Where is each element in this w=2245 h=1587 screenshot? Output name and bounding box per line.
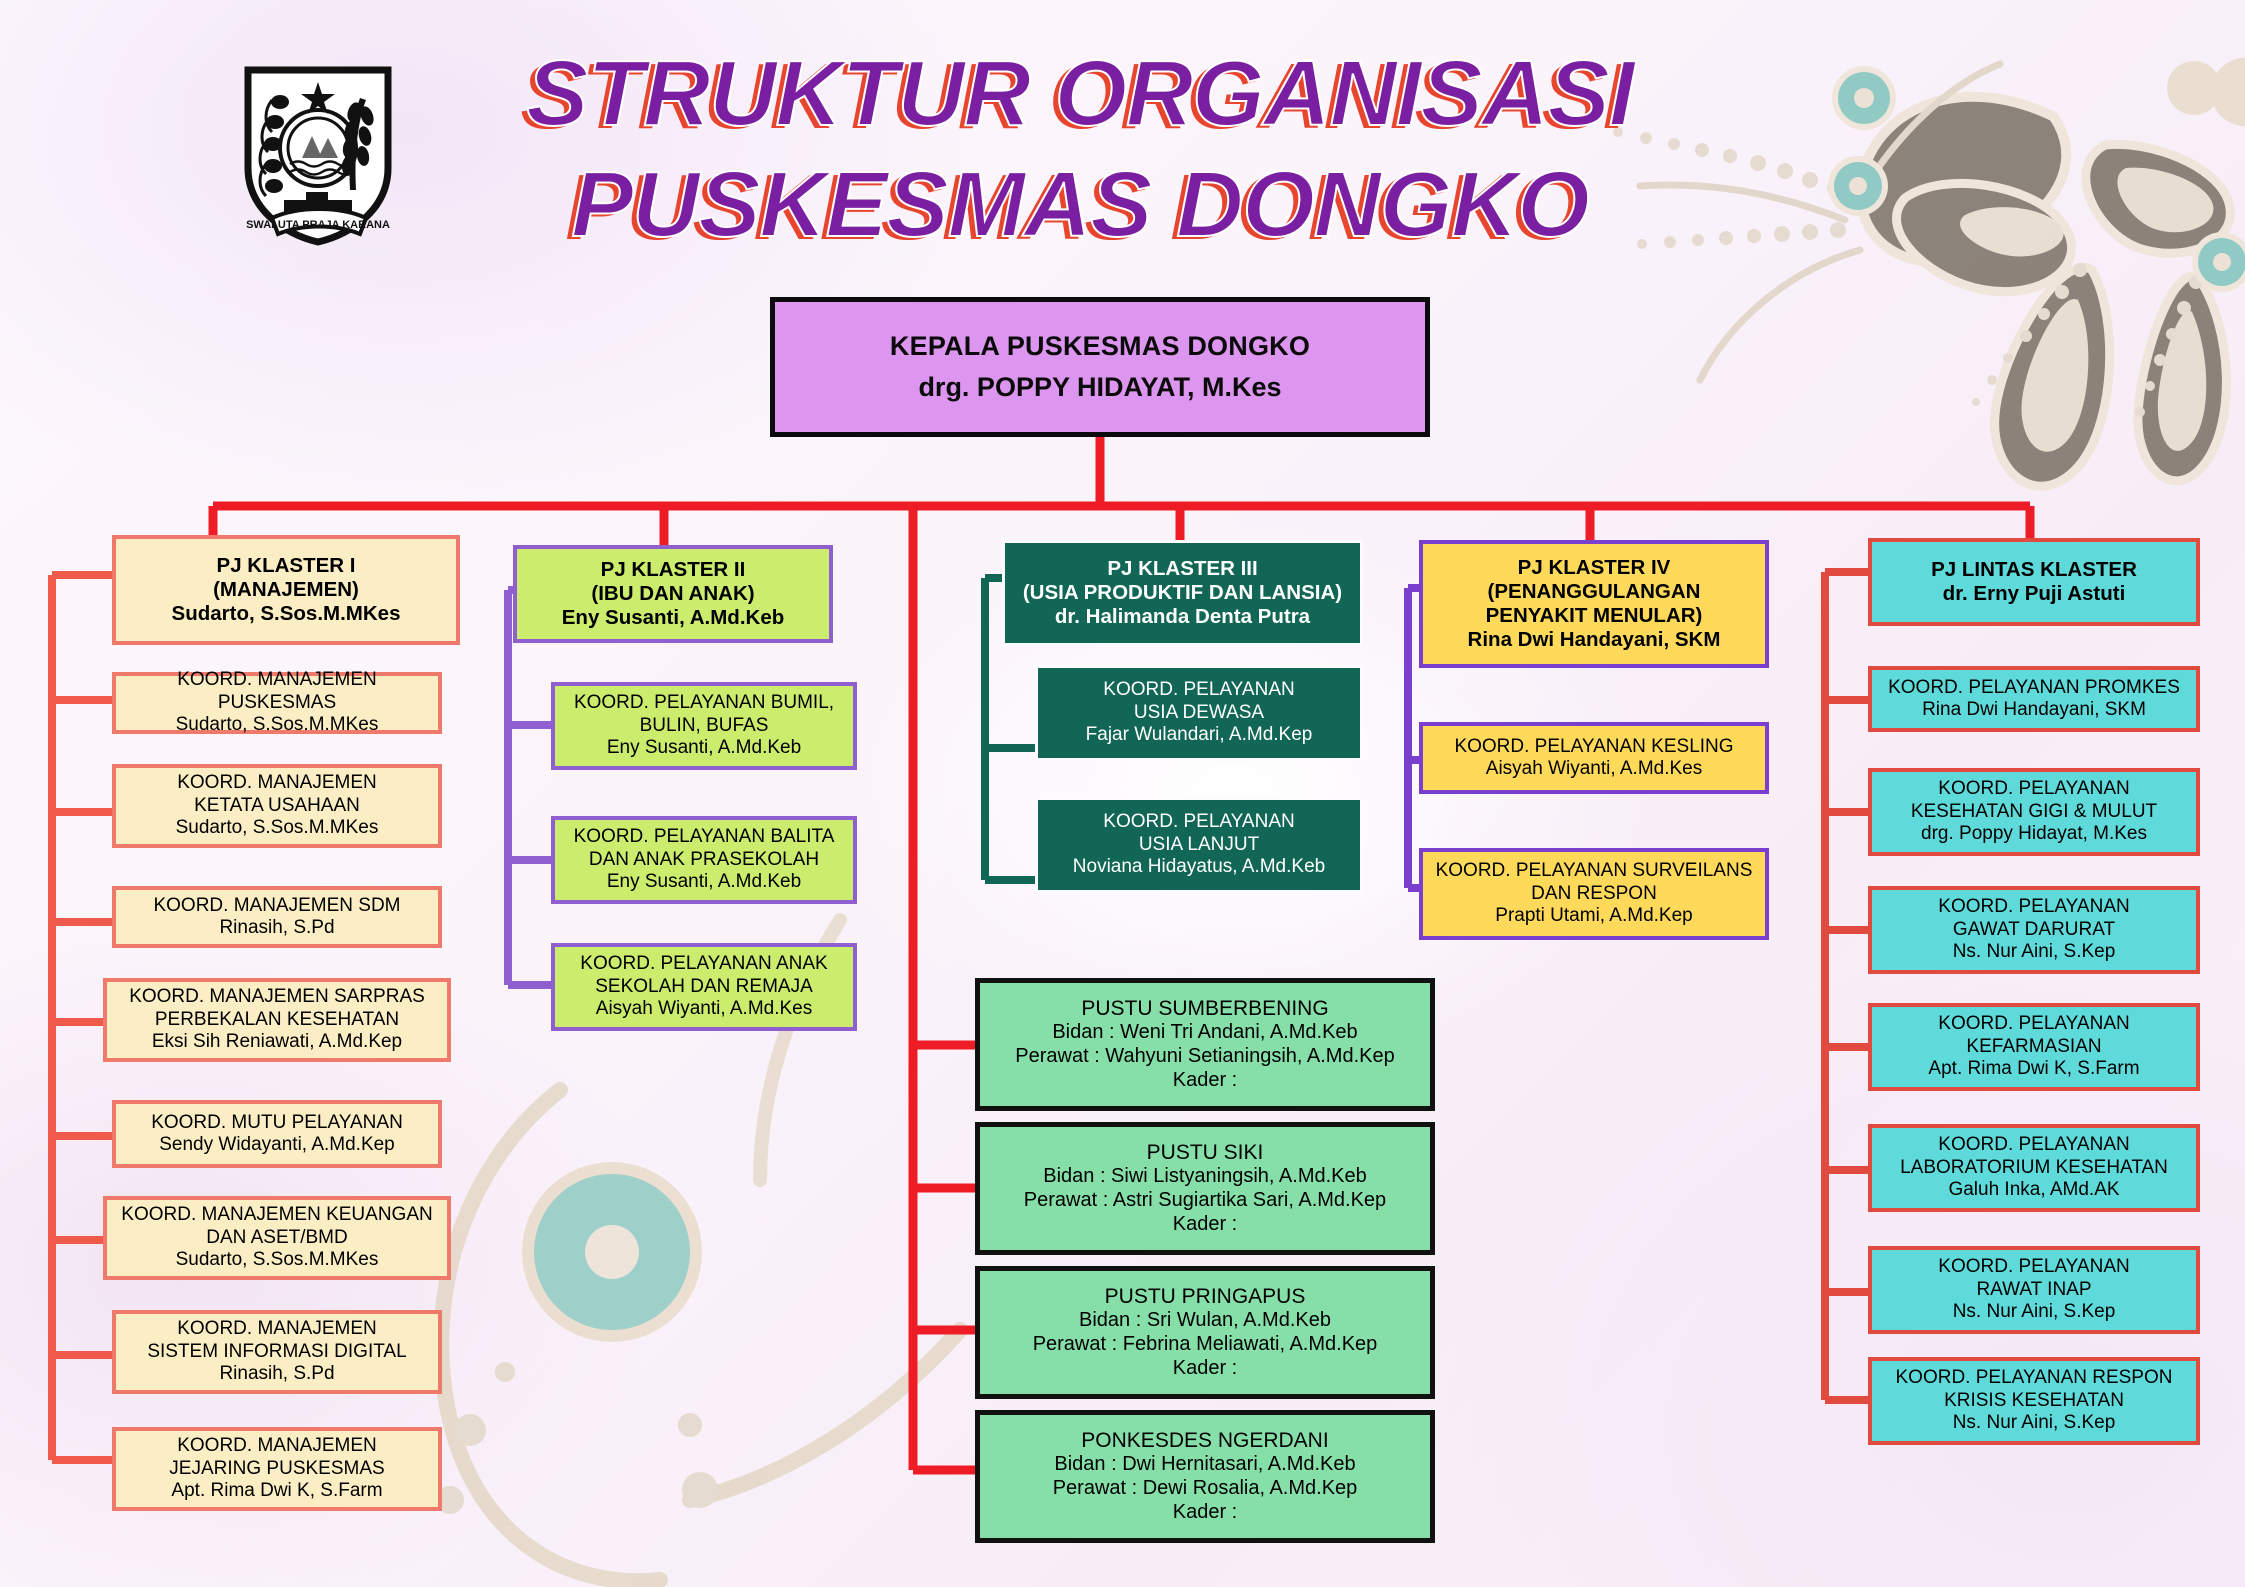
pustu-perawat: Perawat : Febrina Meliawati, A.Md.Kep [980, 1333, 1430, 1357]
klaster-1-item-3[interactable]: KOORD. MANAJEMEN SARPRAS PERBEKALAN KESE… [103, 978, 451, 1062]
item-title: KOORD. PELAYANAN BALITA DAN ANAK PRASEKO… [555, 826, 853, 871]
lintas-klaster-item-0[interactable]: KOORD. PELAYANAN PROMKES Rina Dwi Handay… [1868, 666, 2200, 732]
item-title: KOORD. PELAYANAN RAWAT INAP [1872, 1256, 2196, 1301]
pustu-box-2[interactable]: PUSTU PRINGAPUS Bidan : Sri Wulan, A.Md.… [975, 1266, 1435, 1399]
lintas-klaster-item-3[interactable]: KOORD. PELAYANAN KEFARMASIAN Apt. Rima D… [1868, 1003, 2200, 1091]
poster-title: STRUKTUR ORGANISASI PUSKESMAS DONGKO [400, 40, 1760, 258]
item-name: Ns. Nur Aini, S.Kep [1872, 1301, 2196, 1323]
item-title: KOORD. PELAYANAN ANAK SEKOLAH DAN REMAJA [555, 953, 853, 998]
pustu-box-1[interactable]: PUSTU SIKI Bidan : Siwi Listyaningsih, A… [975, 1122, 1435, 1255]
lintas-klaster-header-line1: PJ LINTAS KLASTER [1872, 558, 2196, 582]
item-name: Sendy Widayanti, A.Md.Kep [116, 1134, 438, 1156]
klaster-3-header-line1: PJ KLASTER III [1009, 557, 1356, 581]
klaster-3-item-0[interactable]: KOORD. PELAYANAN USIA DEWASA Fajar Wulan… [1038, 668, 1360, 758]
item-title: KOORD. MANAJEMEN KETATA USAHAAN [116, 772, 438, 817]
klaster-4-header-line2: (PENANGGULANGAN PENYAKIT MENULAR) [1423, 580, 1765, 628]
item-name: Ns. Nur Aini, S.Kep [1872, 941, 2196, 963]
item-title: KOORD. MANAJEMEN JEJARING PUSKESMAS [116, 1435, 438, 1480]
pustu-bidan: Bidan : Dwi Hernitasari, A.Md.Keb [980, 1453, 1430, 1477]
klaster-1-header[interactable]: PJ KLASTER I (MANAJEMEN) Sudarto, S.Sos.… [112, 535, 460, 645]
lintas-klaster-item-6[interactable]: KOORD. PELAYANAN RESPON KRISIS KESEHATAN… [1868, 1357, 2200, 1445]
klaster-3-header-name: dr. Halimanda Denta Putra [1009, 605, 1356, 629]
item-name: Rinasih, S.Pd [116, 917, 438, 939]
item-name: Sudarto, S.Sos.M.MKes [116, 817, 438, 839]
klaster-4-header[interactable]: PJ KLASTER IV (PENANGGULANGAN PENYAKIT M… [1419, 540, 1769, 668]
pustu-kader: Kader : [980, 1501, 1430, 1525]
item-name: Noviana Hidayatus, A.Md.Keb [1042, 856, 1356, 878]
item-title: KOORD. PELAYANAN BUMIL, BULIN, BUFAS [555, 692, 853, 737]
lintas-klaster-header[interactable]: PJ LINTAS KLASTER dr. Erny Puji Astuti [1868, 538, 2200, 626]
teal-ring-2 [1828, 156, 1888, 216]
item-title: KOORD. PELAYANAN USIA LANJUT [1042, 811, 1356, 856]
pustu-kader: Kader : [980, 1213, 1430, 1237]
klaster-4-item-0[interactable]: KOORD. PELAYANAN KESLING Aisyah Wiyanti,… [1419, 722, 1769, 794]
item-name: Fajar Wulandari, A.Md.Kep [1042, 724, 1356, 746]
klaster-1-header-name: Sudarto, S.Sos.M.MKes [116, 602, 456, 626]
swoosh-5 [690, 1330, 960, 1500]
pustu-title: PUSTU SUMBERBENING [980, 997, 1430, 1022]
pustu-title: PUSTU SIKI [980, 1141, 1430, 1166]
item-name: Galuh Inka, AMd.AK [1872, 1179, 2196, 1201]
klaster-1-header-line2: (MANAJEMEN) [116, 578, 456, 602]
item-name: Sudarto, S.Sos.M.MKes [107, 1249, 447, 1271]
item-title: KOORD. PELAYANAN SURVEILANS DAN RESPON [1423, 860, 1765, 905]
klaster-3-item-1[interactable]: KOORD. PELAYANAN USIA LANJUT Noviana Hid… [1038, 800, 1360, 890]
item-name: Apt. Rima Dwi K, S.Farm [116, 1480, 438, 1502]
pustu-bidan: Bidan : Sri Wulan, A.Md.Keb [980, 1309, 1430, 1333]
item-title: KOORD. MANAJEMEN PUSKESMAS [116, 669, 438, 714]
klaster-2-item-1[interactable]: KOORD. PELAYANAN BALITA DAN ANAK PRASEKO… [551, 816, 857, 904]
lintas-klaster-item-1[interactable]: KOORD. PELAYANAN KESEHATAN GIGI & MULUT … [1868, 768, 2200, 856]
beige-circle-2 [2211, 58, 2245, 126]
klaster-2-header-name: Eny Susanti, A.Md.Keb [517, 606, 829, 630]
klaster-1-item-4[interactable]: KOORD. MUTU PELAYANAN Sendy Widayanti, A… [112, 1100, 442, 1168]
item-title: KOORD. PELAYANAN GAWAT DARURAT [1872, 896, 2196, 941]
pustu-kader: Kader : [980, 1069, 1430, 1093]
lintas-klaster-item-4[interactable]: KOORD. PELAYANAN LABORATORIUM KESEHATAN … [1868, 1124, 2200, 1212]
pustu-bidan: Bidan : Siwi Listyaningsih, A.Md.Keb [980, 1165, 1430, 1189]
kepala-name: drg. POPPY HIDAYAT, M.Kes [775, 372, 1425, 404]
item-name: Rinasih, S.Pd [116, 1363, 438, 1385]
item-name: Apt. Rima Dwi K, S.Farm [1872, 1058, 2196, 1080]
item-title: KOORD. MUTU PELAYANAN [116, 1112, 438, 1134]
pustu-box-3[interactable]: PONKESDES NGERDANI Bidan : Dwi Hernitasa… [975, 1410, 1435, 1543]
klaster-2-header-line1: PJ KLASTER II [517, 558, 829, 582]
klaster-1-item-6[interactable]: KOORD. MANAJEMEN SISTEM INFORMASI DIGITA… [112, 1310, 442, 1394]
title-line-2: PUSKESMAS DONGKO [400, 151, 1760, 258]
item-name: Aisyah Wiyanti, A.Md.Kes [555, 998, 853, 1020]
pustu-kader: Kader : [980, 1357, 1430, 1381]
klaster-3-header[interactable]: PJ KLASTER III (USIA PRODUKTIF DAN LANSI… [1005, 543, 1360, 643]
item-title: KOORD. PELAYANAN USIA DEWASA [1042, 679, 1356, 724]
pustu-title: PONKESDES NGERDANI [980, 1429, 1430, 1454]
klaster-1-item-5[interactable]: KOORD. MANAJEMEN KEUANGAN DAN ASET/BMD S… [103, 1196, 451, 1280]
item-title: KOORD. PELAYANAN PROMKES [1872, 677, 2196, 699]
klaster-2-item-2[interactable]: KOORD. PELAYANAN ANAK SEKOLAH DAN REMAJA… [551, 943, 857, 1031]
item-name: Rina Dwi Handayani, SKM [1872, 699, 2196, 721]
item-title: KOORD. MANAJEMEN KEUANGAN DAN ASET/BMD [107, 1204, 447, 1249]
teal-ring-large [522, 1162, 702, 1342]
pustu-perawat: Perawat : Astri Sugiartika Sari, A.Md.Ke… [980, 1189, 1430, 1213]
item-name: drg. Poppy Hidayat, M.Kes [1872, 823, 2196, 845]
pustu-bidan: Bidan : Weni Tri Andani, A.Md.Keb [980, 1021, 1430, 1045]
klaster-4-item-1[interactable]: KOORD. PELAYANAN SURVEILANS DAN RESPON P… [1419, 848, 1769, 940]
item-title: KOORD. PELAYANAN KEFARMASIAN [1872, 1013, 2196, 1058]
kepala-puskesmas-box[interactable]: KEPALA PUSKESMAS DONGKO drg. POPPY HIDAY… [770, 297, 1430, 437]
klaster-2-header[interactable]: PJ KLASTER II (IBU DAN ANAK) Eny Susanti… [513, 545, 833, 643]
item-name: Eny Susanti, A.Md.Keb [555, 737, 853, 759]
klaster-1-item-0[interactable]: KOORD. MANAJEMEN PUSKESMAS Sudarto, S.So… [112, 672, 442, 734]
klaster-1-header-line1: PJ KLASTER I [116, 554, 456, 578]
klaster-2-header-line2: (IBU DAN ANAK) [517, 582, 829, 606]
lintas-klaster-header-name: dr. Erny Puji Astuti [1872, 582, 2196, 606]
pustu-box-0[interactable]: PUSTU SUMBERBENING Bidan : Weni Tri Anda… [975, 978, 1435, 1111]
item-title: KOORD. PELAYANAN RESPON KRISIS KESEHATAN [1872, 1367, 2196, 1412]
item-title: KOORD. MANAJEMEN SISTEM INFORMASI DIGITA… [116, 1318, 438, 1363]
item-name: Prapti Utami, A.Md.Kep [1423, 905, 1765, 927]
kepala-role: KEPALA PUSKESMAS DONGKO [775, 331, 1425, 363]
klaster-3-header-line2: (USIA PRODUKTIF DAN LANSIA) [1009, 581, 1356, 605]
item-name: Ns. Nur Aini, S.Kep [1872, 1412, 2196, 1434]
pustu-perawat: Perawat : Dewi Rosalia, A.Md.Kep [980, 1477, 1430, 1501]
item-title: KOORD. MANAJEMEN SARPRAS PERBEKALAN KESE… [107, 986, 447, 1031]
item-name: Aisyah Wiyanti, A.Md.Kes [1423, 758, 1765, 780]
swoosh-3 [1700, 250, 1860, 380]
klaster-2-item-0[interactable]: KOORD. PELAYANAN BUMIL, BULIN, BUFAS Eny… [551, 682, 857, 770]
item-title: KOORD. MANAJEMEN SDM [116, 895, 438, 917]
lintas-klaster-item-5[interactable]: KOORD. PELAYANAN RAWAT INAP Ns. Nur Aini… [1868, 1246, 2200, 1334]
item-name: Eny Susanti, A.Md.Keb [555, 871, 853, 893]
item-title: KOORD. PELAYANAN LABORATORIUM KESEHATAN [1872, 1134, 2196, 1179]
lintas-klaster-item-2[interactable]: KOORD. PELAYANAN GAWAT DARURAT Ns. Nur A… [1868, 886, 2200, 974]
item-name: Eksi Sih Reniawati, A.Md.Kep [107, 1031, 447, 1053]
pustu-perawat: Perawat : Wahyuni Setianingsih, A.Md.Kep [980, 1045, 1430, 1069]
klaster-1-item-1[interactable]: KOORD. MANAJEMEN KETATA USAHAAN Sudarto,… [112, 764, 442, 848]
item-title: KOORD. PELAYANAN KESEHATAN GIGI & MULUT [1872, 778, 2196, 823]
item-title: KOORD. PELAYANAN KESLING [1423, 736, 1765, 758]
title-line-1: STRUKTUR ORGANISASI [400, 40, 1760, 147]
item-name: Sudarto, S.Sos.M.MKes [116, 714, 438, 736]
klaster-1-item-7[interactable]: KOORD. MANAJEMEN JEJARING PUSKESMAS Apt.… [112, 1427, 442, 1511]
pustu-title: PUSTU PRINGAPUS [980, 1285, 1430, 1310]
klaster-1-item-2[interactable]: KOORD. MANAJEMEN SDM Rinasih, S.Pd [112, 886, 442, 948]
klaster-4-header-name: Rina Dwi Handayani, SKM [1423, 628, 1765, 652]
teal-ring-1 [1832, 66, 1896, 130]
klaster-4-header-line1: PJ KLASTER IV [1423, 556, 1765, 580]
